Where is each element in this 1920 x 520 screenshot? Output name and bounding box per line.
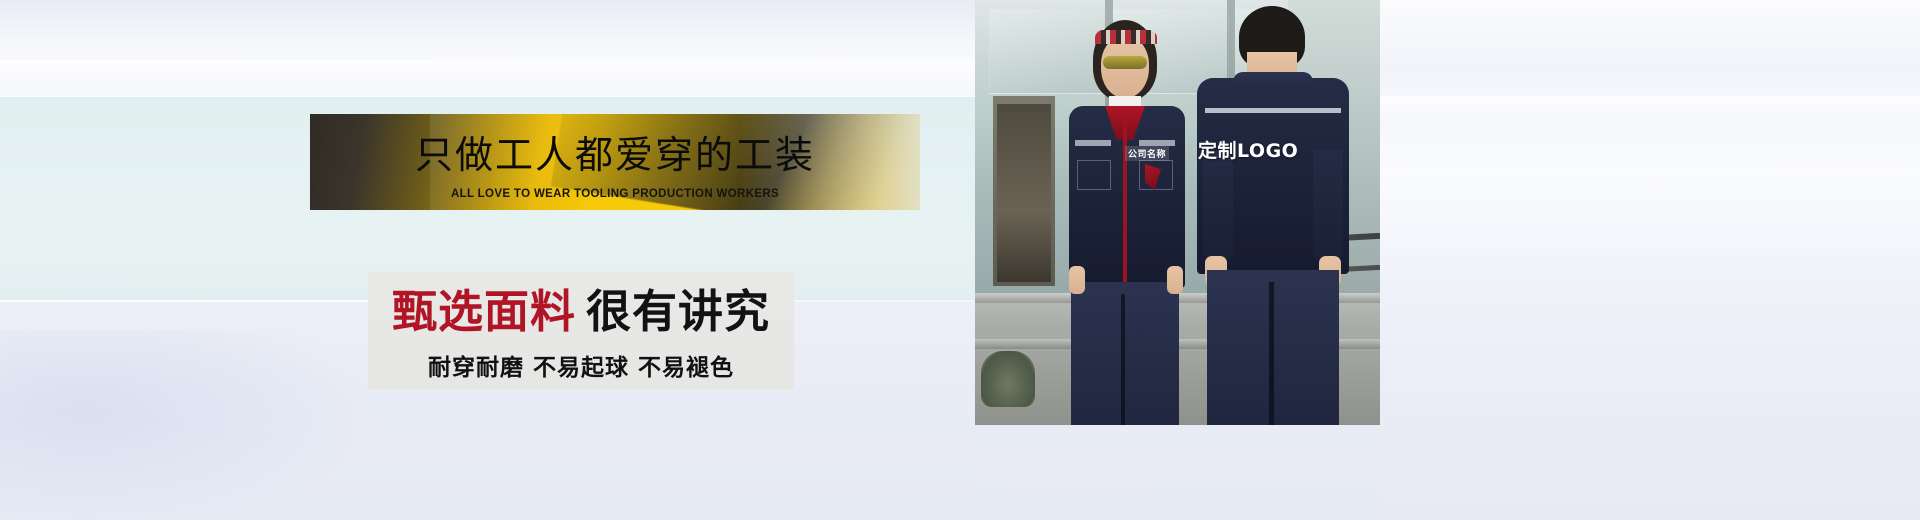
front-jacket-logo-label: 公司名称	[1125, 146, 1169, 161]
fabric-headline-black: 很有讲究	[586, 285, 770, 338]
yellow-headline-banner: 只做工人都爱穿的工装 ALL LOVE TO WEAR TOOLING PROD…	[310, 114, 920, 210]
model-back-collar	[1233, 72, 1313, 90]
model-front	[1063, 14, 1193, 425]
banner-headline-cn: 只做工人都爱穿的工装	[310, 132, 920, 178]
promo-banner-stage: 公司名称 定制LOGO 只做工人都爱穿的工装 ALL LOVE TO WEAR …	[0, 0, 1920, 520]
photo-bottom-strip	[975, 425, 1380, 520]
back-jacket-logo-label: 定制LOGO	[1198, 136, 1298, 163]
background-soft-blob	[0, 330, 380, 520]
model-back-reflective-stripe	[1205, 108, 1341, 113]
model-back-sleeve	[1203, 150, 1233, 260]
model-front-trousers	[1071, 282, 1179, 425]
fabric-features-line: 耐穿耐磨 不易起球 不易褪色	[368, 348, 794, 382]
model-front-hand	[1069, 266, 1085, 294]
model-back-sleeve	[1313, 150, 1343, 260]
model-front-trouser-seam	[1121, 294, 1125, 425]
photo-door	[997, 104, 1051, 282]
fabric-headline-red: 甄选面料	[392, 285, 576, 338]
model-front-zipper	[1123, 114, 1127, 284]
model-front-reflective-stripe	[1075, 140, 1111, 146]
fabric-headline-block: 甄选面料很有讲究 耐穿耐磨 不易起球 不易褪色	[368, 272, 794, 390]
right-strip-band	[1380, 96, 1920, 120]
model-front-hand	[1167, 266, 1183, 294]
model-back-trouser-seam	[1269, 282, 1274, 425]
model-front-pocket	[1077, 160, 1111, 190]
right-strip-band	[1380, 0, 1920, 70]
model-back	[1193, 0, 1353, 425]
banner-subline-en: ALL LOVE TO WEAR TOOLING PRODUCTION WORK…	[310, 188, 920, 200]
model-front-sunglasses	[1103, 56, 1147, 69]
fabric-headline: 甄选面料很有讲究	[368, 286, 794, 338]
background-right-strip	[1380, 0, 1920, 520]
model-front-headband	[1095, 30, 1157, 44]
product-photo	[975, 0, 1380, 425]
photo-plant	[981, 351, 1035, 407]
